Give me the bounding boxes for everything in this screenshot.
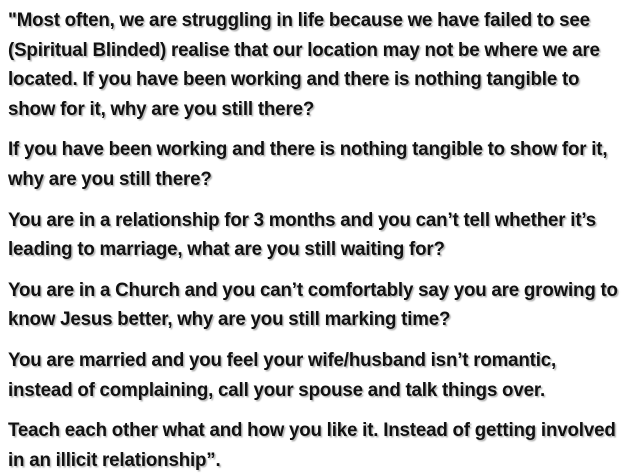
quote-image-canvas: "Most often, we are struggling in life b… [0, 0, 640, 455]
quote-paragraph-3: You are in a relationship for 3 months a… [8, 206, 622, 265]
quote-paragraph-4: You are in a Church and you can’t comfor… [8, 276, 622, 335]
quote-paragraph-1: "Most often, we are struggling in life b… [8, 6, 622, 124]
quote-paragraph-6: Teach each other what and how you like i… [8, 416, 622, 475]
quote-paragraph-2: If you have been working and there is no… [8, 135, 622, 194]
quote-paragraph-5: You are married and you feel your wife/h… [8, 346, 622, 405]
